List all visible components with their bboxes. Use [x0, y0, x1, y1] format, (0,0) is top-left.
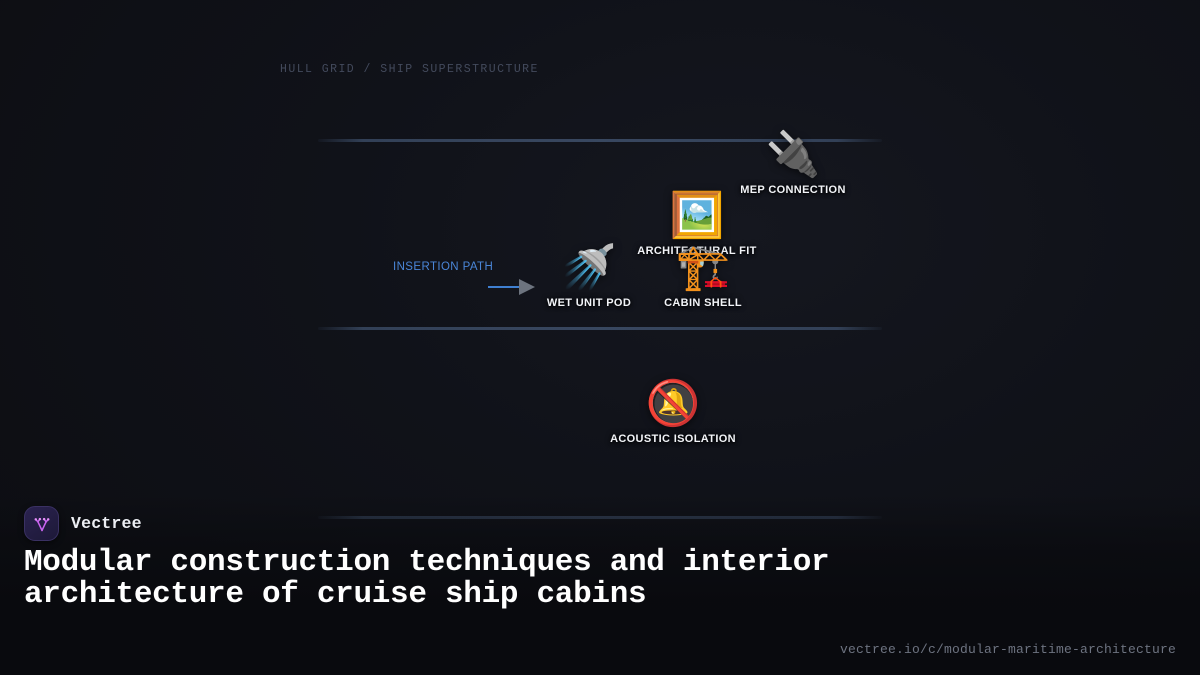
framed-picture-icon: 🖼️ [670, 191, 725, 241]
vectree-tree-logo-icon [24, 506, 59, 541]
brand: Vectree [24, 506, 142, 541]
caption-panel: Vectree Modular construction techniques … [0, 495, 1200, 675]
bell-with-slash-icon: 🔕 [646, 379, 701, 429]
source-url: vectree.io/c/modular-maritime-architectu… [840, 642, 1176, 657]
node-label: CABIN SHELL [664, 297, 742, 309]
node-acoustic-isolation[interactable]: 🔕 ACOUSTIC ISOLATION [598, 379, 748, 445]
page-title: Modular construction techniques and inte… [24, 547, 834, 611]
node-mep-connection[interactable]: 🔌 MEP CONNECTION [718, 130, 868, 196]
shower-icon: 🚿 [562, 243, 617, 293]
breadcrumb: HULL GRID / SHIP SUPERSTRUCTURE [280, 63, 539, 76]
insertion-path-label: INSERTION PATH [393, 261, 493, 273]
canvas-root: HULL GRID / SHIP SUPERSTRUCTURE INSERTIO… [0, 0, 1200, 675]
building-construction-icon: 🏗️ [676, 243, 731, 293]
brand-name: Vectree [71, 514, 142, 533]
electric-plug-icon: 🔌 [766, 130, 821, 180]
hull-rail-middle [318, 327, 882, 330]
node-label: WET UNIT POD [547, 297, 631, 309]
node-cabin-shell[interactable]: 🏗️ CABIN SHELL [628, 243, 778, 309]
node-label: ACOUSTIC ISOLATION [610, 433, 736, 445]
